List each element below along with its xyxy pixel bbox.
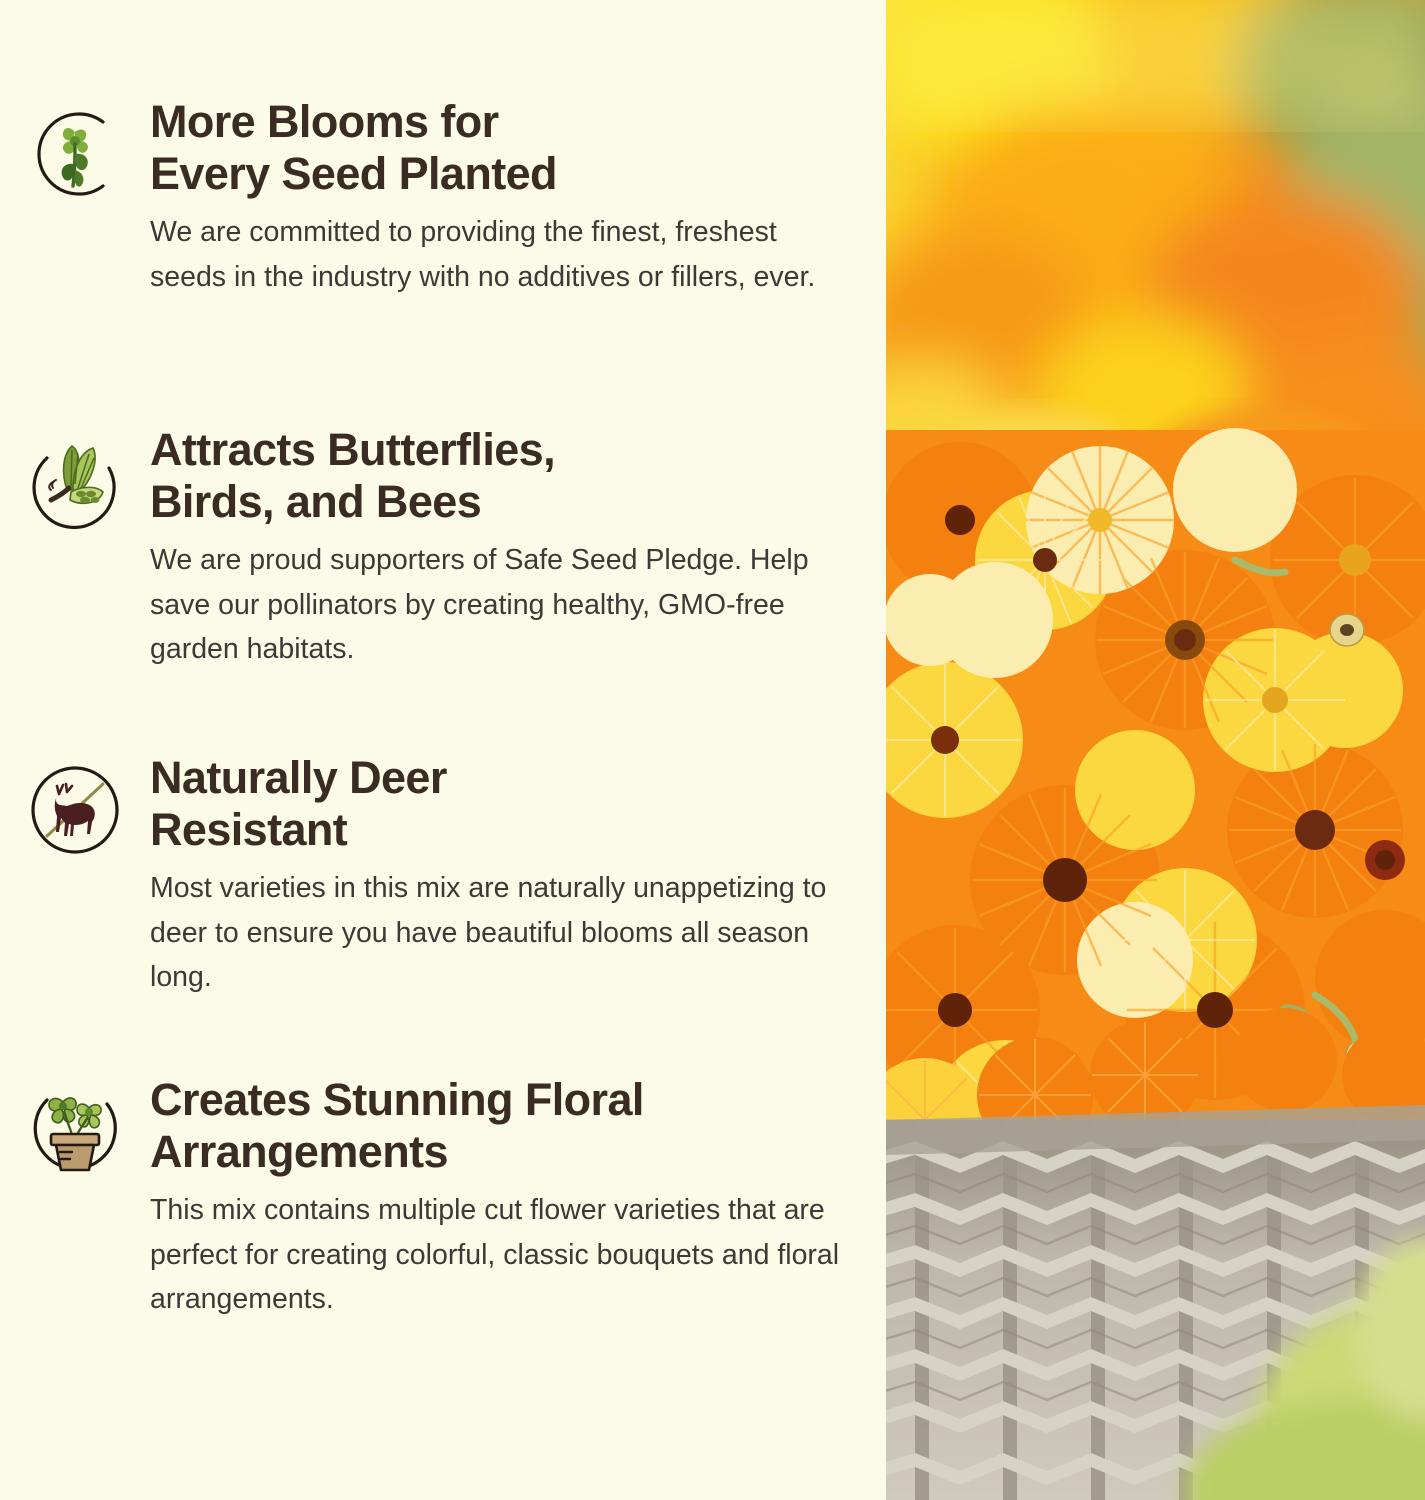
feature-item-more-blooms: More Blooms for Every Seed Planted We ar…	[0, 96, 885, 299]
feature-description: We are proud supporters of Safe Seed Ple…	[150, 538, 850, 671]
feature-icon-container	[0, 96, 150, 206]
photo-illustration	[885, 0, 1425, 1500]
feature-icon-container	[0, 424, 150, 534]
feature-title: Naturally Deer Resistant	[150, 752, 855, 856]
feature-description: Most varieties in this mix are naturally…	[150, 866, 850, 999]
feature-item-floral-arrangements: Creates Stunning Floral Arrangements Thi…	[0, 1074, 885, 1321]
feature-text-block: More Blooms for Every Seed Planted We ar…	[150, 96, 885, 299]
calendula-flowers-in-wicker-basket-photo	[885, 0, 1425, 1500]
feature-title: Attracts Butterflies, Birds, and Bees	[150, 424, 855, 528]
no-deer-icon	[23, 758, 127, 862]
feature-list: More Blooms for Every Seed Planted We ar…	[0, 0, 885, 1500]
feature-description: This mix contains multiple cut flower va…	[150, 1188, 855, 1321]
feature-icon-container	[0, 752, 150, 862]
feature-text-block: Attracts Butterflies, Birds, and Bees We…	[150, 424, 885, 671]
potted-plant-icon	[23, 1080, 127, 1184]
column-divider	[884, 0, 886, 1500]
feature-text-block: Naturally Deer Resistant Most varieties …	[150, 752, 885, 999]
feature-item-attracts-pollinators: Attracts Butterflies, Birds, and Bees We…	[0, 424, 885, 671]
feature-item-deer-resistant: Naturally Deer Resistant Most varieties …	[0, 752, 885, 999]
feature-title: Creates Stunning Floral Arrangements	[150, 1074, 855, 1178]
feature-icon-container	[0, 1074, 150, 1184]
feature-text-block: Creates Stunning Floral Arrangements Thi…	[150, 1074, 885, 1321]
product-feature-page: More Blooms for Every Seed Planted We ar…	[0, 0, 1425, 1500]
flower-sprout-icon	[23, 102, 127, 206]
feature-title: More Blooms for Every Seed Planted	[150, 96, 855, 200]
feature-description: We are committed to providing the finest…	[150, 210, 850, 298]
butterfly-icon	[23, 430, 127, 534]
